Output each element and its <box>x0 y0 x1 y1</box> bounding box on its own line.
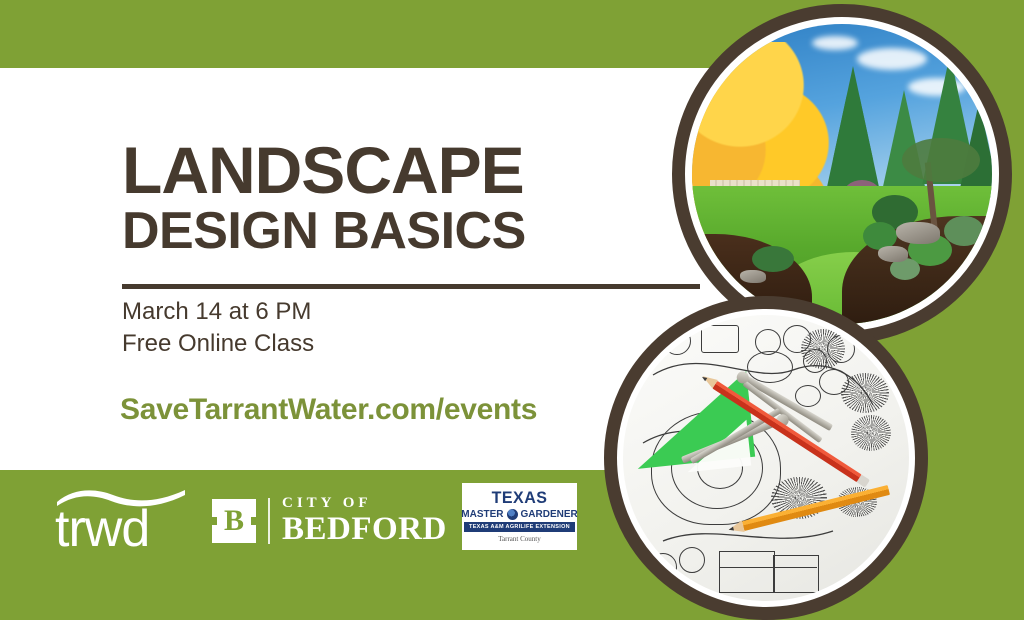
bedford-name: BEDFORD <box>282 513 447 546</box>
headline-block: LANDSCAPE DESIGN BASICS <box>122 140 722 257</box>
event-format: Free Online Class <box>122 328 314 360</box>
master-gardener-logo: TEXAS MASTER GARDENER TEXAS A&M AGRILIFE… <box>462 483 577 550</box>
page-subtitle: DESIGN BASICS <box>122 205 722 257</box>
divider <box>122 284 700 289</box>
ground-cover <box>752 246 794 272</box>
logo-divider <box>268 498 270 544</box>
trwd-logo: trwd <box>55 486 190 558</box>
event-details: March 14 at 6 PM Free Online Class <box>122 296 314 359</box>
cloud <box>857 48 927 70</box>
landscape-rock <box>878 246 908 262</box>
tree-canopy <box>902 138 980 182</box>
landscape-rock <box>740 270 766 283</box>
mg-gardener-label: GARDENER <box>521 509 578 520</box>
water-wave-icon <box>55 486 187 510</box>
topiary-shrub <box>944 216 984 246</box>
landscape-rock <box>896 222 940 244</box>
bedford-eyebrow: CITY OF <box>282 496 447 511</box>
registration-link[interactable]: SaveTarrantWater.com/events <box>120 393 537 427</box>
trwd-wordmark: trwd <box>55 506 190 553</box>
event-datetime: March 14 at 6 PM <box>122 296 314 328</box>
plan-symbol <box>649 553 677 581</box>
blueprint-photo <box>623 315 909 601</box>
mg-county-label: Tarrant County <box>498 535 540 543</box>
page-title: LANDSCAPE <box>122 140 722 201</box>
bedford-mark-letter: B <box>212 499 256 543</box>
plan-symbol <box>679 547 705 573</box>
flyer-canvas: LANDSCAPE DESIGN BASICS March 14 at 6 PM… <box>0 0 1024 576</box>
mg-master-label: MASTER <box>461 509 503 520</box>
mg-texas-label: TEXAS <box>492 490 548 507</box>
bedford-logo: B CITY OF BEDFORD <box>212 496 447 546</box>
mg-middle-row: MASTER GARDENER <box>461 509 577 520</box>
bluebonnet-flower-icon <box>507 509 518 520</box>
garden-photo <box>692 24 992 324</box>
plan-building-symbol <box>719 551 775 593</box>
mg-extension-band: TEXAS A&M AGRILIFE EXTENSION <box>464 522 575 532</box>
plan-building-symbol <box>773 555 819 593</box>
plan-line <box>719 567 817 568</box>
bedford-b-emblem-icon: B <box>212 499 256 543</box>
bedford-text: CITY OF BEDFORD <box>282 496 447 546</box>
